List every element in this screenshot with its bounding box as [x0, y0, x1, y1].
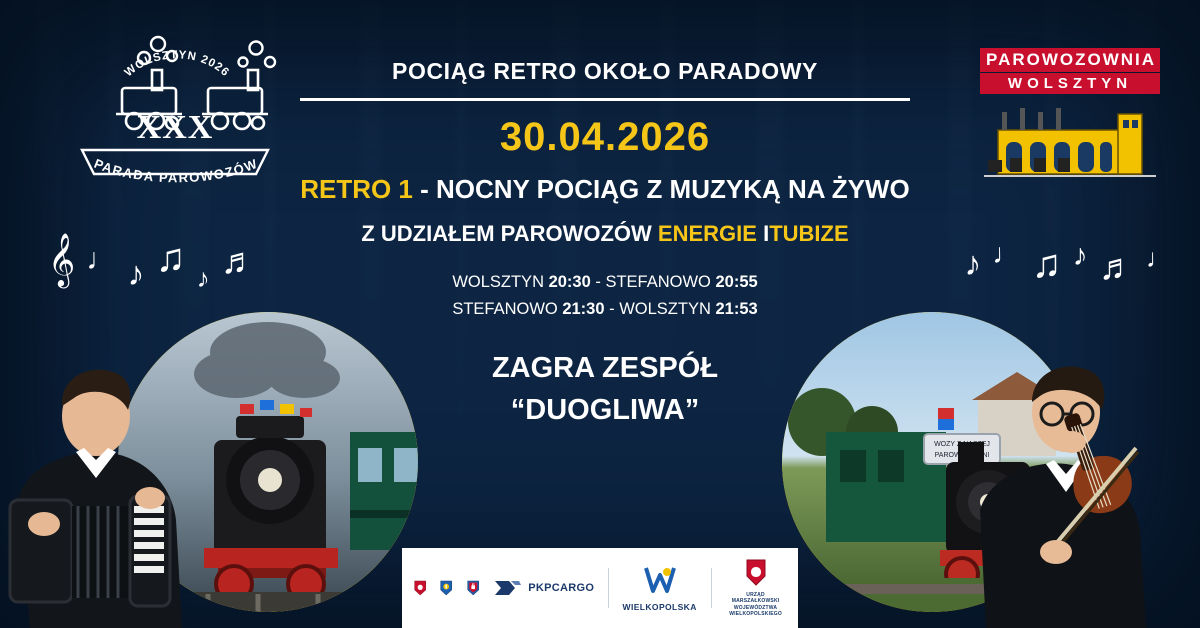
retro-label: RETRO 1 [300, 174, 413, 204]
divider-rule [300, 98, 910, 101]
schedule-row-1: WOLSZTYN 20:30 - STEFANOWO 20:55 [300, 269, 910, 296]
schedule-2-to-time: 21:53 [715, 300, 757, 318]
schedule-2-to: WOLSZTYN [619, 300, 711, 318]
parowozownia-subtitle: WOLSZTYN [980, 73, 1160, 94]
schedule-1-to-time: 20:55 [715, 273, 757, 291]
logo-bottom-text: PARADA PAROWOZÓW [92, 156, 260, 186]
poster-background: WOLSZTYN 2026 XXX PARADA PAROWOZÓW PAROW… [0, 0, 1200, 628]
schedule-1-from: WOLSZTYN [452, 273, 544, 291]
schedule-2-dash: - [609, 300, 615, 318]
music-notes-left: 𝄞 ♩ ♪ ♫ ♪ ♬ [48, 236, 257, 282]
locomotive-tubize: TUBIZE [769, 221, 848, 246]
sponsor-bar: PKPCARGO WIELKOPOLSKA URZĄD MARSZAŁKOWSK… [402, 548, 798, 628]
schedule-1-to: STEFANOWO [605, 273, 710, 291]
pkp-cargo-label: PKPCARGO [528, 582, 594, 594]
wielkopolska-icon [643, 565, 677, 595]
schedule-list: WOLSZTYN 20:30 - STEFANOWO 20:55 STEFANO… [300, 269, 910, 323]
svg-text:PARADA PAROWOZÓW: PARADA PAROWOZÓW [92, 156, 260, 186]
music-notes-right: ♪ ♩ ♫ ♪ ♬ ♩ [964, 236, 1172, 276]
schedule-row-2: STEFANOWO 21:30 - WOLSZTYN 21:53 [300, 296, 910, 323]
logo-roman-numeral: XXX [137, 109, 214, 146]
roundhouse-illustration [980, 102, 1160, 182]
violinist-photo [940, 300, 1200, 628]
locomotive-energie: ENERGIE [658, 221, 757, 246]
urzad-marszalkowski-logo: URZĄD MARSZAŁKOWSKI WOJEWÓDZTWA WIELKOPO… [725, 559, 786, 618]
schedule-2-from: STEFANOWO [452, 300, 557, 318]
locomotives-line: Z UDZIAŁEM PAROWOZÓW ENERGIE ITUBIZE [300, 221, 910, 247]
schedule-1-from-time: 20:30 [549, 273, 591, 291]
event-date: 30.04.2026 [300, 115, 910, 160]
retro-line: RETRO 1 - NOCNY POCIĄG Z MUZYKĄ NA ŻYWO [300, 174, 910, 205]
wielkopolska-logo: WIELKOPOLSKA [623, 565, 697, 612]
accordionist-photo [0, 300, 250, 628]
parada-parowozow-logo: WOLSZTYN 2026 XXX PARADA PAROWOZÓW [60, 22, 290, 187]
crest-wolsztyn-red-icon [467, 567, 479, 609]
schedule-2-from-time: 21:30 [562, 300, 604, 318]
parowozownia-wolsztyn-logo: PAROWOZOWNIA WOLSZTYN [980, 48, 1160, 198]
retro-description: - NOCNY POCIĄG Z MUZYKĄ NA ŻYWO [420, 174, 910, 204]
wielkopolska-label: WIELKOPOLSKA [623, 602, 697, 612]
pkp-cargo-logo: PKPCARGO [493, 577, 594, 599]
urzad-label: URZĄD MARSZAŁKOWSKI WOJEWÓDZTWA WIELKOPO… [725, 592, 786, 618]
page-title: POCIĄG RETRO OKOŁO PARADOWY [300, 58, 910, 85]
parowozownia-title: PAROWOZOWNIA [980, 48, 1160, 72]
urzad-crest-icon [745, 559, 767, 587]
locomotives-prefix: Z UDZIAŁEM PAROWOZÓW [361, 221, 651, 246]
crest-poland-icon [414, 567, 426, 609]
pkp-cargo-icon [493, 577, 523, 599]
crest-wolsztyn-blue-icon [440, 567, 452, 609]
schedule-1-dash: - [595, 273, 601, 291]
